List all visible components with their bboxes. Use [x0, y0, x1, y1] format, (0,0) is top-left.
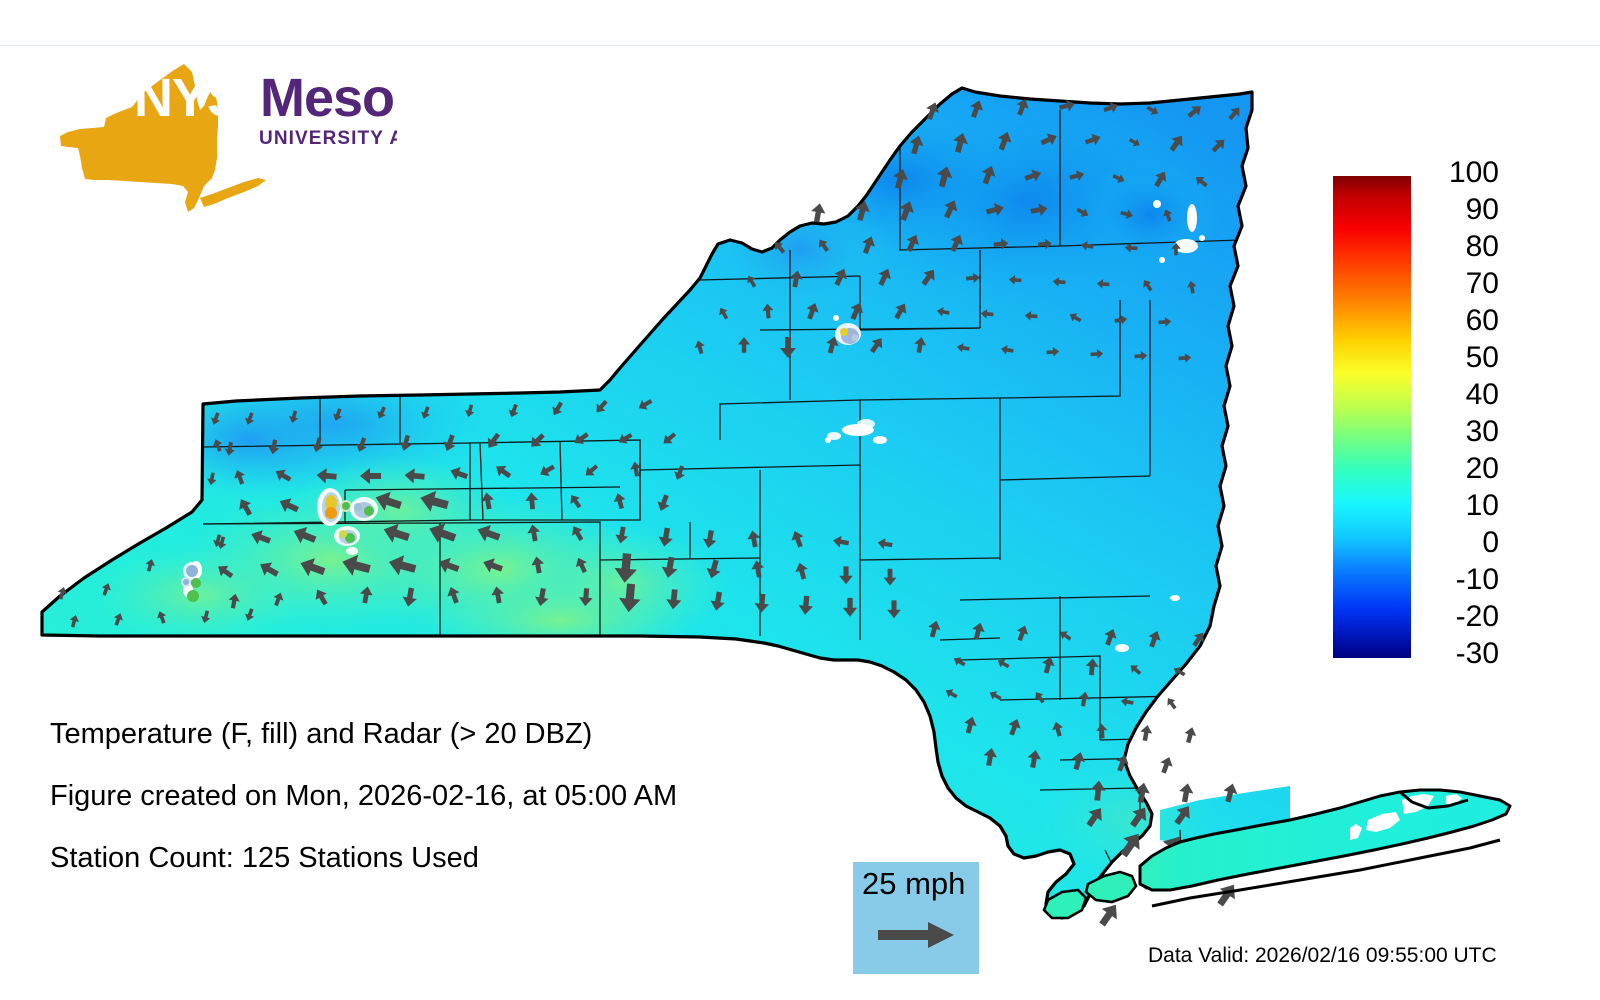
lake-small-a [1153, 200, 1161, 208]
wind-arrow [1164, 695, 1179, 711]
warm-core-steuben [430, 575, 690, 665]
long-island-water-notches [1350, 794, 1462, 840]
wind-arrow [1182, 726, 1198, 744]
weather-map-figure: NYS Mesonet UNIVERSITY AT ALBANY [0, 0, 1600, 1000]
wind-arrow [810, 202, 827, 223]
colorbar-tick: -10 [1419, 565, 1499, 595]
wind-arrow [1213, 879, 1242, 909]
colorbar-tick: 40 [1419, 380, 1499, 410]
radar-cell-small-a [346, 547, 358, 555]
caption-title: Temperature (F, fill) and Radar (> 20 DB… [50, 718, 850, 751]
cold-core-champlain [1080, 160, 1220, 270]
colorbar-tick-labels: 100 90 80 70 60 50 40 30 20 10 0 -10 -20… [1419, 158, 1529, 678]
radar-cell-livingston [350, 497, 378, 521]
wind-speed-legend-label: 25 mph [862, 866, 965, 902]
colorbar-tick: -20 [1419, 602, 1499, 632]
lake-small-c [1159, 257, 1165, 263]
colorbar-tick: 30 [1419, 417, 1499, 447]
radar-cell-adirondack [835, 323, 861, 345]
colorbar-tick: 20 [1419, 454, 1499, 484]
lake-small-g [1170, 595, 1180, 601]
colorbar-tick: 70 [1419, 269, 1499, 299]
wind-legend-arrow-icon [878, 920, 958, 955]
colorbar-tick: 0 [1419, 528, 1499, 558]
colorbar-tick: 100 [1419, 158, 1499, 188]
lake-small-f [833, 315, 839, 321]
colorbar-tick: 10 [1419, 491, 1499, 521]
lake-ashokan [1115, 644, 1129, 652]
lake-small-d [873, 436, 887, 444]
lake-small-b [1199, 235, 1205, 241]
figure-caption-block: Temperature (F, fill) and Radar (> 20 DB… [50, 718, 850, 904]
colorbar-tick: 80 [1419, 232, 1499, 262]
colorbar-tick: -30 [1419, 639, 1499, 669]
caption-station-count: Station Count: 125 Stations Used [50, 842, 850, 875]
data-valid-timestamp: Data Valid: 2026/02/16 09:55:00 UTC [1148, 944, 1497, 968]
lake-george [1187, 204, 1197, 232]
temperature-colorbar [1333, 176, 1411, 658]
radar-cell-small-c [857, 419, 875, 429]
wind-arrow [1178, 782, 1195, 803]
colorbar-tick: 50 [1419, 343, 1499, 373]
radar-cell-small-b [827, 432, 841, 440]
radar-cell-ontario [334, 526, 360, 546]
wind-arrow [1158, 755, 1176, 775]
caption-created: Figure created on Mon, 2026-02-16, at 05… [50, 780, 850, 813]
colorbar-gradient [1333, 176, 1411, 658]
wind-arrow [1095, 899, 1124, 929]
wind-speed-legend: 25 mph [853, 862, 979, 974]
colorbar-tick: 90 [1419, 195, 1499, 225]
colorbar-tick: 60 [1419, 306, 1499, 336]
